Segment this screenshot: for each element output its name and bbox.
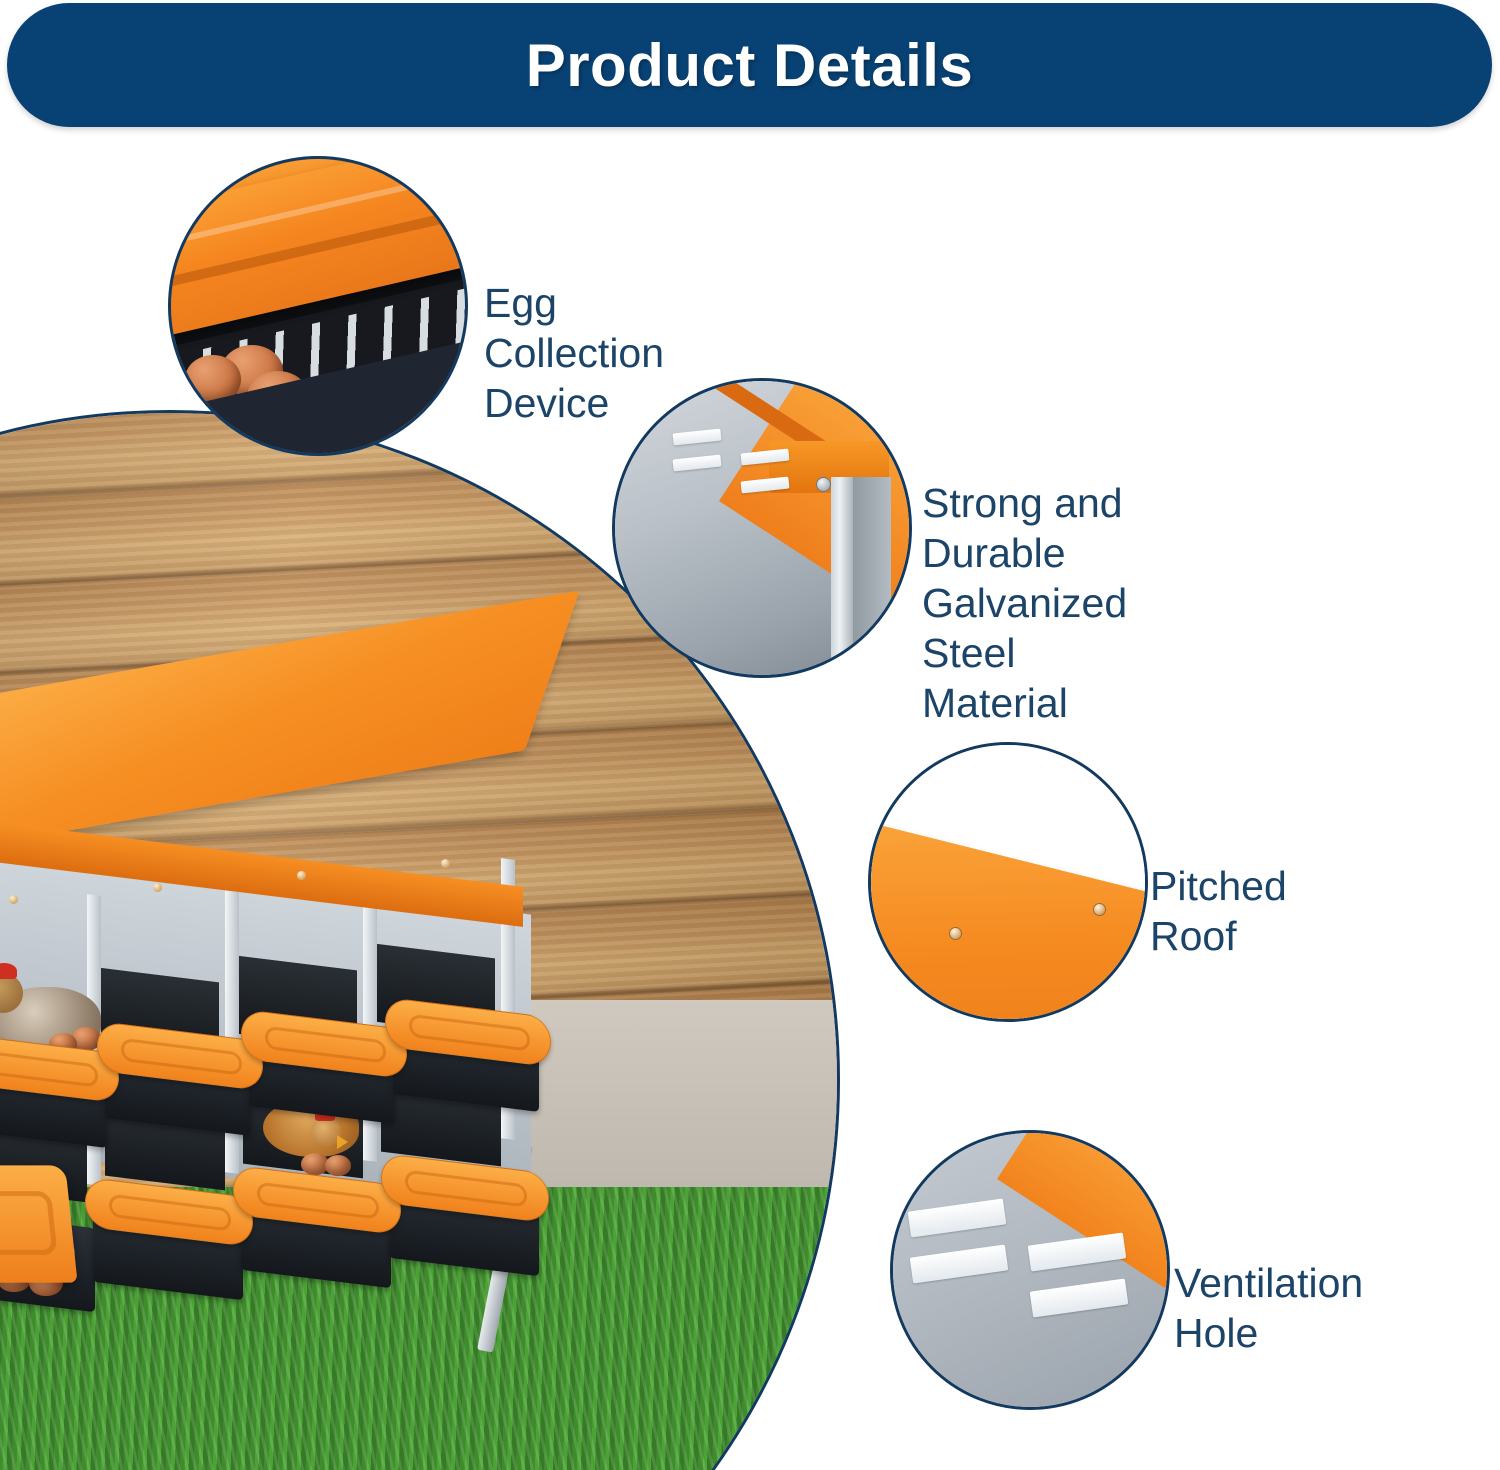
roof-rivet-1 (9, 895, 18, 904)
callout-label-pitched-roof: Pitched Roof (1150, 861, 1287, 961)
roof-screw-1 (949, 927, 962, 940)
steel-post-front (831, 477, 853, 678)
callout-label-galvanized-steel: Strong and Durable Galvanized Steel Mate… (922, 478, 1127, 728)
nesting-box-product (0, 713, 593, 1373)
roof-screw-2 (1093, 903, 1106, 916)
callout-image-pitched-roof (868, 742, 1148, 1022)
corner-screw (816, 477, 831, 492)
header-banner: Product Details (7, 3, 1492, 127)
infographic-canvas: Product Details (0, 0, 1500, 1470)
hen-beak (337, 1135, 348, 1149)
hen-comb (0, 963, 17, 979)
egg-in-nest-lower-2 (325, 1155, 351, 1176)
steel-post-rear (849, 477, 891, 678)
callout-image-egg-collection-device (168, 156, 468, 456)
callout-label-ventilation-hole: Ventilation Hole (1174, 1258, 1363, 1358)
page-title: Product Details (526, 31, 974, 100)
roof-rivet-2 (153, 883, 162, 892)
opened-tray-lid[interactable] (0, 1165, 78, 1282)
callout-image-ventilation-hole (890, 1130, 1170, 1410)
roof-rivet-4 (441, 859, 450, 868)
callout-image-galvanized-steel (612, 378, 912, 678)
roof-rivet-3 (297, 871, 306, 880)
